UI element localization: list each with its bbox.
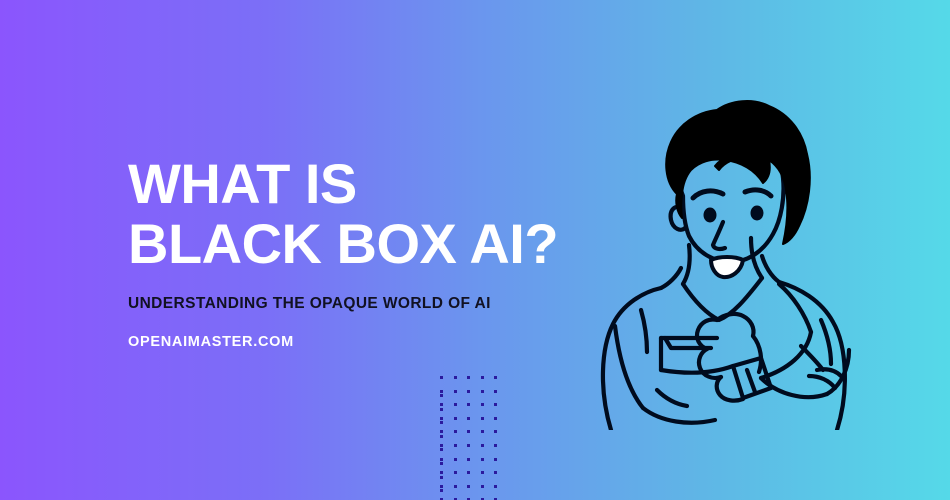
dot-grid-row xyxy=(440,444,516,458)
decorative-dot xyxy=(467,390,470,393)
decorative-dot xyxy=(467,376,470,379)
decorative-dot xyxy=(481,485,484,488)
dot-grid-row xyxy=(440,485,516,499)
decorative-dot xyxy=(467,471,470,474)
decorative-dot xyxy=(494,471,497,474)
decorative-dot xyxy=(494,485,497,488)
dot-grid-row xyxy=(440,390,516,404)
dot-grid-row xyxy=(440,430,516,444)
decorative-dot xyxy=(454,444,457,447)
dot-grid-row xyxy=(440,403,516,417)
subtitle: UNDERSTANDING THE OPAQUE WORLD OF AI xyxy=(128,295,491,313)
decorative-dot xyxy=(481,403,484,406)
decorative-dot xyxy=(440,376,443,379)
decorative-dot xyxy=(454,390,457,393)
decorative-dot xyxy=(454,430,457,433)
decorative-dot xyxy=(440,390,443,393)
banner: WHAT IS BLACK BOX AI? UNDERSTANDING THE … xyxy=(0,0,950,500)
decorative-dot xyxy=(440,417,443,420)
decorative-dot xyxy=(467,444,470,447)
decorative-dot xyxy=(454,458,457,461)
decorative-dot xyxy=(440,444,443,447)
decorative-dot xyxy=(481,417,484,420)
decorative-dot xyxy=(494,458,497,461)
dot-grid-row xyxy=(440,376,516,390)
decorative-dot xyxy=(454,485,457,488)
decorative-dot xyxy=(494,444,497,447)
decorative-dot xyxy=(481,390,484,393)
decorative-dot xyxy=(481,430,484,433)
decorative-dot xyxy=(494,417,497,420)
decorative-dot xyxy=(494,376,497,379)
decorative-dot xyxy=(440,458,443,461)
decorative-dot xyxy=(467,485,470,488)
decorative-dot xyxy=(481,376,484,379)
decorative-dot xyxy=(454,417,457,420)
site-url: OPENAIMASTER.COM xyxy=(128,334,294,350)
decorative-dot xyxy=(481,458,484,461)
dot-grid-row xyxy=(440,417,516,431)
dot-grid-row xyxy=(440,471,516,485)
headline-line-2: BLACK BOX AI? xyxy=(128,216,548,272)
headline-line-1: WHAT IS xyxy=(128,156,548,212)
dot-grid-decoration xyxy=(440,376,516,500)
decorative-dot xyxy=(467,430,470,433)
decorative-dot xyxy=(494,430,497,433)
thinking-man-illustration xyxy=(565,70,885,430)
decorative-dot xyxy=(454,471,457,474)
dot-grid-row xyxy=(440,458,516,472)
thinking-man-line-art-icon xyxy=(565,70,885,430)
decorative-dot xyxy=(494,390,497,393)
decorative-dot xyxy=(494,403,497,406)
decorative-dot xyxy=(467,458,470,461)
decorative-dot xyxy=(481,444,484,447)
decorative-dot xyxy=(440,471,443,474)
decorative-dot xyxy=(454,376,457,379)
decorative-dot xyxy=(440,403,443,406)
decorative-dot xyxy=(440,485,443,488)
decorative-dot xyxy=(467,417,470,420)
decorative-dot xyxy=(440,430,443,433)
decorative-dot xyxy=(481,471,484,474)
headline-block: WHAT IS BLACK BOX AI? xyxy=(128,156,548,272)
decorative-dot xyxy=(467,403,470,406)
decorative-dot xyxy=(454,403,457,406)
